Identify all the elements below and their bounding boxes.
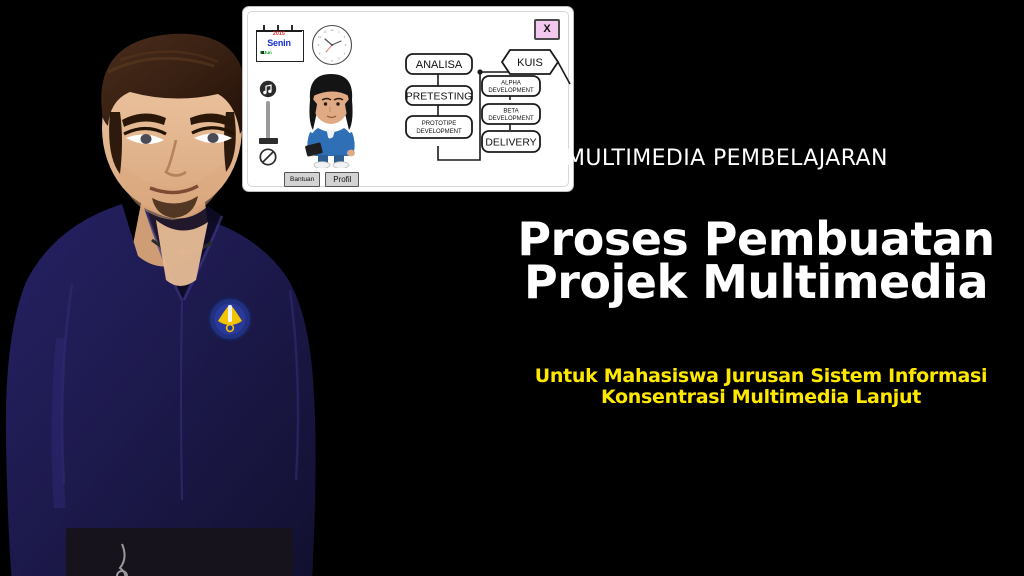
student-avatar <box>296 70 366 168</box>
window-button-row: Bantuan Profil <box>284 172 359 187</box>
page-title: Proses Pembuatan Projek Multimedia <box>506 216 1006 306</box>
flow-node-analisa-label: ANALISA <box>416 59 463 71</box>
flow-node-delivery: DELIVERY <box>482 131 540 152</box>
flow-node-prototipe-label-line2: DEVELOPMENT <box>416 129 462 135</box>
close-button[interactable]: X <box>534 19 560 40</box>
svg-text:12: 12 <box>330 28 334 32</box>
kicker-text: MULTIMEDIA PEMBELAJARAN <box>566 146 888 171</box>
flow-node-pretesting: PRETESTING <box>406 86 472 105</box>
calendar-date: 8 Jun <box>260 50 300 55</box>
svg-text:11: 11 <box>323 30 326 34</box>
audience-line2: Konsentrasi Multimedia Lanjut <box>506 387 1016 408</box>
app-window: X 2015 Senin 8 Jun 123 69 12 <box>242 6 574 192</box>
svg-text:10: 10 <box>318 35 322 39</box>
flow-node-alpha-label-line1: ALPHA <box>501 81 521 87</box>
flow-node-alpha: ALPHA DEVELOPMENT <box>482 76 540 96</box>
page-title-line2: Projek Multimedia <box>506 259 1006 306</box>
audience-text: Untuk Mahasiswa Jurusan Sistem Informasi… <box>506 366 1016 409</box>
music-note-icon[interactable] <box>259 80 277 98</box>
volume-slider[interactable] <box>266 101 270 139</box>
slide-canvas: X 2015 Senin 8 Jun 123 69 12 <box>0 0 1024 576</box>
calendar-widget: 2015 Senin 8 Jun <box>256 25 304 61</box>
flow-node-delivery-label: DELIVERY <box>485 138 536 149</box>
flow-node-prototipe: PROTOTIPE DEVELOPMENT <box>406 116 472 138</box>
flow-node-beta-label-line1: BETA <box>503 109 518 115</box>
volume-slider-thumb[interactable] <box>259 138 278 144</box>
flow-node-pretesting-label: PRETESTING <box>406 92 472 103</box>
flow-node-analisa: ANALISA <box>406 54 472 74</box>
flow-node-beta-label-line2: DEVELOPMENT <box>488 116 534 122</box>
flow-node-alpha-label-line2: DEVELOPMENT <box>488 88 534 94</box>
app-window-content: X 2015 Senin 8 Jun 123 69 12 <box>247 11 569 187</box>
calendar-year: 2015 <box>256 31 302 37</box>
process-flowchart: KUIS ANALISA PRETESTING PROTOTIPE DEVELO… <box>398 42 573 177</box>
audience-line1: Untuk Mahasiswa Jurusan Sistem Informasi <box>506 366 1016 387</box>
flow-node-beta: BETA DEVELOPMENT <box>482 104 540 124</box>
flow-node-kuis-label: KUIS <box>517 57 543 69</box>
bantuan-button[interactable]: Bantuan <box>284 172 320 187</box>
flow-node-prototipe-label-line1: PROTOTIPE <box>422 121 457 127</box>
calendar-day-name: Senin <box>256 38 302 48</box>
analog-clock: 123 69 12 45 78 1011 <box>311 24 353 66</box>
no-sound-icon[interactable] <box>259 148 277 166</box>
profil-button[interactable]: Profil <box>325 172 359 187</box>
flow-node-kuis: KUIS <box>502 50 558 74</box>
university-badge <box>209 298 251 340</box>
